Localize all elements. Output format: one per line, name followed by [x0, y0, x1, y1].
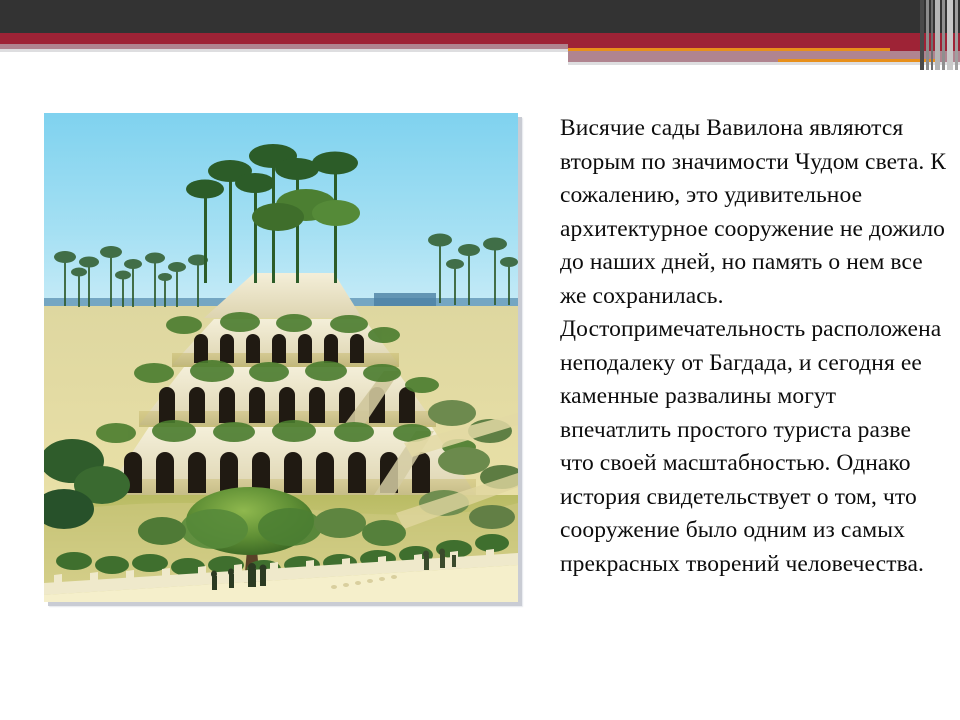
header-vertical-stripe-7 — [955, 0, 958, 70]
header-vertical-stripe-6 — [947, 0, 953, 70]
header-vertical-stripe-2 — [926, 0, 929, 70]
hanging-gardens-image — [44, 113, 518, 602]
header-vertical-stripe-4 — [935, 0, 940, 70]
header-vertical-stripe-3 — [931, 0, 933, 70]
header-dark-bar — [0, 0, 960, 33]
header-vertical-stripes — [918, 0, 960, 70]
picture-frame — [44, 113, 518, 602]
header-gray-bar-right — [568, 62, 960, 65]
header-crimson-bar-left — [0, 33, 568, 44]
header-vertical-stripe-5 — [942, 0, 945, 70]
hanging-gardens-illustration — [44, 113, 518, 602]
header-gray-bar-left — [0, 49, 568, 52]
body-paragraph: Висячие сады Вавилона являются вторым по… — [560, 112, 950, 581]
header-vertical-stripe-1 — [920, 0, 924, 70]
slide: Висячие сады Вавилона являются вторым по… — [0, 0, 960, 720]
